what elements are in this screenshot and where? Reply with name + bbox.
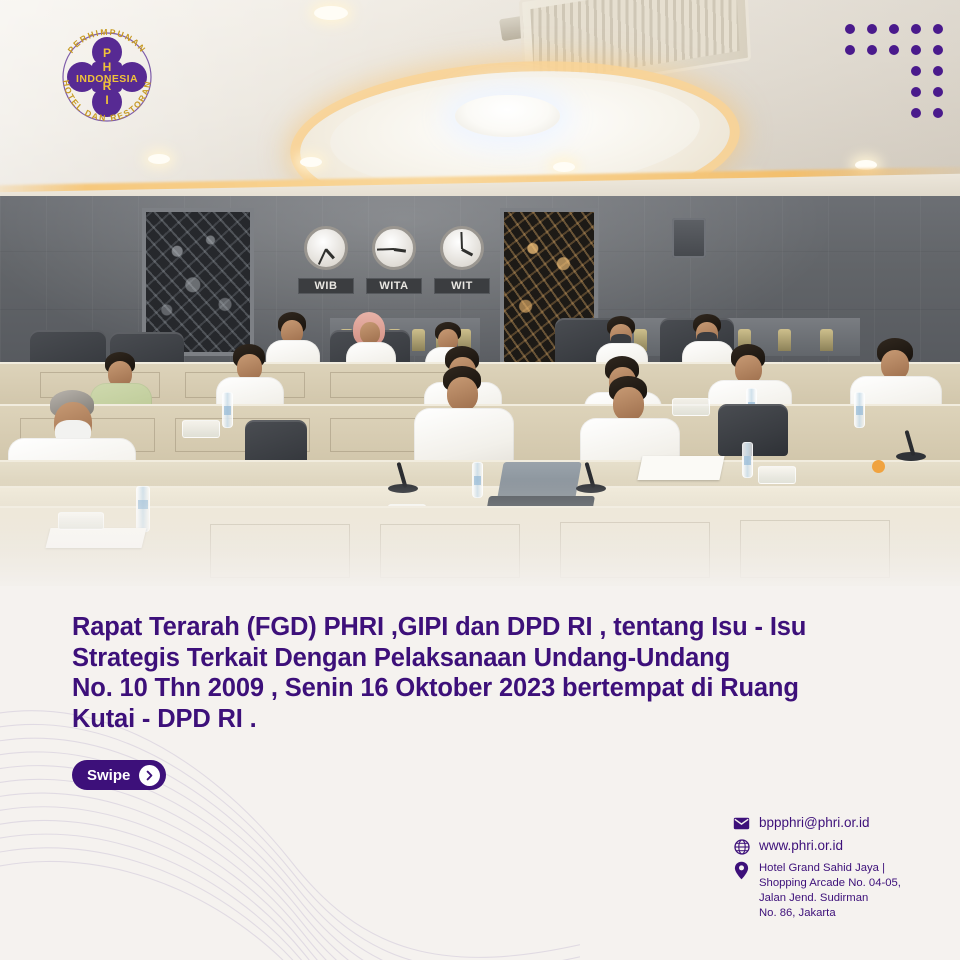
dot (889, 45, 899, 55)
globe-icon (733, 838, 750, 855)
swipe-label: Swipe (87, 767, 130, 784)
swipe-button[interactable]: Swipe (72, 760, 166, 790)
contact-address-text: Hotel Grand Sahid Jaya | Shopping Arcade… (759, 861, 901, 921)
envelope-icon (733, 815, 750, 832)
head (447, 377, 478, 411)
contact-block: bppphri@phri.or.id www.phri.or.id (733, 815, 948, 927)
head (613, 387, 644, 421)
svg-text:INDONESIA: INDONESIA (76, 73, 138, 85)
social-media-poster: WIB WITA WIT (0, 0, 960, 960)
svg-text:P: P (103, 46, 111, 60)
phri-logo: P H R I INDONESIA PERHIMPUNAN HOTEL DAN … (48, 18, 166, 136)
dot (911, 66, 921, 76)
dot (933, 45, 943, 55)
svg-text:H: H (103, 60, 112, 74)
location-pin-icon (733, 862, 750, 879)
wall-clock-wita (372, 226, 416, 270)
photo-fade (0, 480, 960, 600)
dot (867, 24, 877, 34)
downlight-icon (300, 157, 322, 167)
chevron-right-icon (139, 765, 160, 786)
snack-box (182, 420, 220, 438)
dot (845, 45, 855, 55)
dot (845, 24, 855, 34)
dot (911, 45, 921, 55)
dot (911, 24, 921, 34)
clock-hour-hand (461, 248, 473, 256)
dot (933, 24, 943, 34)
trophy (778, 329, 791, 351)
clock-minute-hand (318, 249, 327, 265)
contact-website-text: www.phri.or.id (759, 838, 843, 854)
clock-label-wit: WIT (434, 278, 490, 294)
dot (889, 24, 899, 34)
water-bottle (222, 392, 233, 428)
decorative-dot-grid (845, 24, 945, 116)
clock-minute-hand (460, 232, 463, 249)
trophy (820, 329, 833, 351)
downlight-icon (314, 6, 348, 20)
wall-clock-wib (304, 226, 348, 270)
trophy (412, 329, 425, 351)
wall-clock-wit (440, 226, 484, 270)
page-title: Rapat Terarah (FGD) PHRI ,GIPI dan DPD R… (72, 612, 902, 735)
orange-fruit (872, 460, 885, 473)
snack-box (672, 398, 710, 416)
clock-minute-hand (377, 248, 394, 251)
water-bottle (854, 392, 865, 428)
chair (718, 404, 788, 456)
clock-hour-hand (394, 248, 406, 252)
paper-documents (637, 456, 724, 480)
dot (933, 66, 943, 76)
water-bottle (742, 442, 753, 478)
contact-email-row[interactable]: bppphri@phri.or.id (733, 815, 948, 832)
clock-label-wib: WIB (298, 278, 354, 294)
head (360, 322, 380, 344)
dot (933, 87, 943, 97)
carving-pattern (146, 212, 250, 352)
dot (911, 87, 921, 97)
dot (933, 108, 943, 118)
contact-address-row: Hotel Grand Sahid Jaya | Shopping Arcade… (733, 861, 948, 921)
svg-text:I: I (105, 93, 108, 107)
contact-website-row[interactable]: www.phri.or.id (733, 838, 948, 855)
ceiling-lamp (455, 95, 560, 137)
clock-label-wita: WITA (366, 278, 422, 294)
dot (867, 45, 877, 55)
wall-speaker (672, 218, 706, 258)
contact-email-text: bppphri@phri.or.id (759, 815, 870, 831)
dot (911, 108, 921, 118)
downlight-icon (148, 154, 170, 164)
downlight-icon (553, 162, 575, 172)
